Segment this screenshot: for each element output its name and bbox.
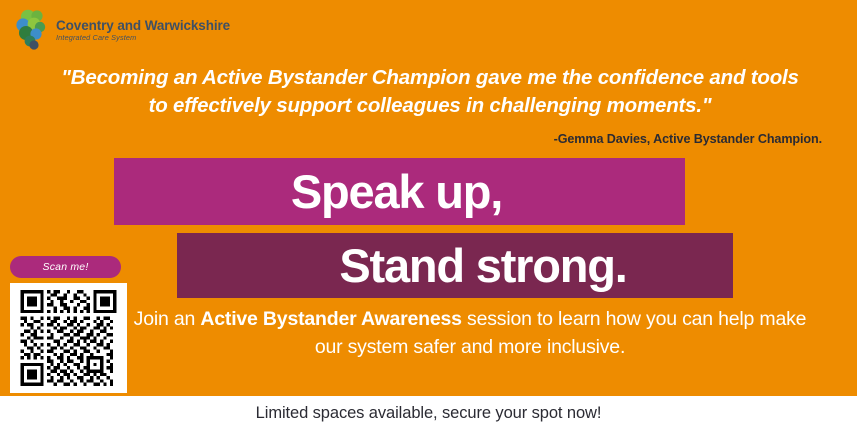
footer-text: Limited spaces available, secure your sp… bbox=[256, 404, 602, 423]
ics-circles-icon bbox=[14, 8, 52, 52]
logo-subtitle: Integrated Care System bbox=[56, 34, 230, 41]
logo-title: Coventry and Warwickshire bbox=[56, 19, 230, 33]
footer-bar: Limited spaces available, secure your sp… bbox=[0, 396, 857, 430]
headline-banner-speak-up: Speak up, bbox=[114, 158, 685, 225]
body-copy: Join an Active Bystander Awareness sessi… bbox=[120, 306, 820, 361]
organisation-logo: Coventry and Warwickshire Integrated Car… bbox=[14, 6, 264, 54]
scan-me-label: Scan me! bbox=[43, 261, 89, 273]
quote-line-2: to effectively support colleagues in cha… bbox=[30, 92, 830, 119]
headline-text-two: Stand strong. bbox=[339, 242, 626, 289]
quote-attribution: -Gemma Davies, Active Bystander Champion… bbox=[0, 132, 822, 146]
scan-me-badge: Scan me! bbox=[10, 256, 121, 278]
qr-code[interactable] bbox=[10, 283, 127, 393]
logo-wordmark: Coventry and Warwickshire Integrated Car… bbox=[56, 19, 230, 41]
headline-banner-stand-strong: Stand strong. bbox=[177, 233, 733, 298]
testimonial-quote: "Becoming an Active Bystander Champion g… bbox=[30, 64, 830, 119]
poster-canvas: Coventry and Warwickshire Integrated Car… bbox=[0, 0, 857, 430]
body-copy-emphasis: Active Bystander Awareness bbox=[200, 308, 461, 330]
body-copy-part1: Join an bbox=[134, 308, 201, 330]
quote-line-1: "Becoming an Active Bystander Champion g… bbox=[30, 64, 830, 91]
headline-text-one: Speak up, bbox=[291, 168, 502, 215]
